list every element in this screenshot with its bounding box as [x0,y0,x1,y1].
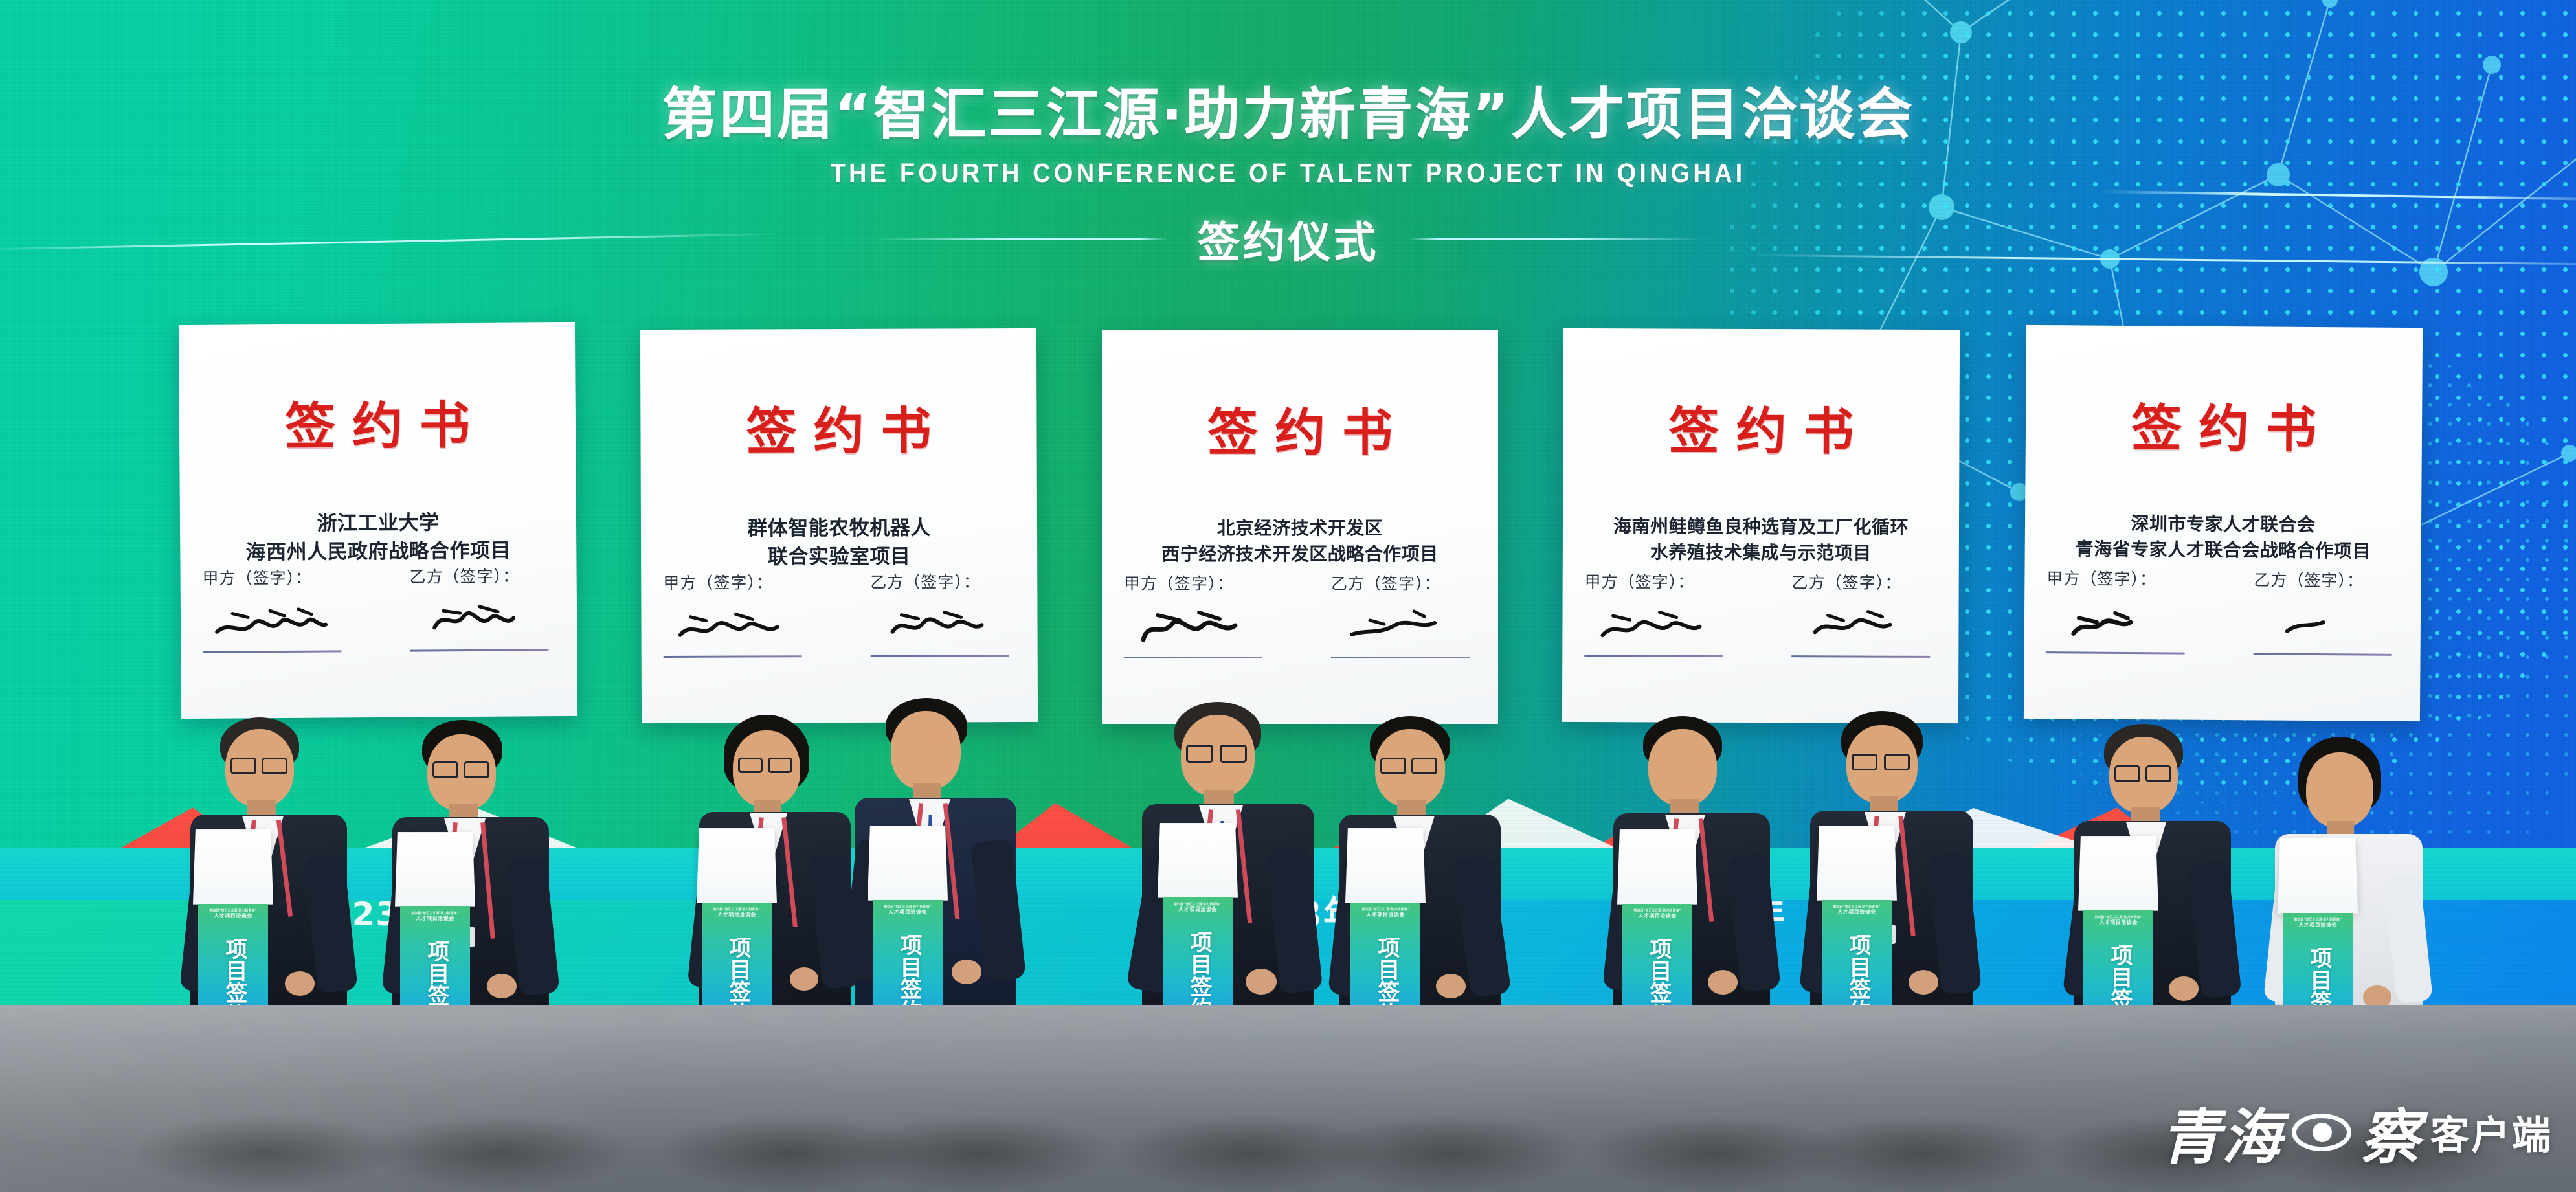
board-heading: 签约书 [1585,390,1937,464]
podium-caption-main: 人才项目洽谈会 [1638,913,1677,919]
board-project-line: 群体智能农牧机器人 [663,513,1015,543]
podium-caption-small: 第四届“智汇三江源·助力新青海” [1622,909,1692,913]
board-heading: 签约书 [2048,387,2401,462]
podium-caption: 第四届“智汇三江源·助力新青海” 人才项目洽谈会 [1163,903,1233,913]
podium-desktop [868,826,948,901]
podium-caption: 第四届“智汇三江源·助力新青海” 人才项目洽谈会 [2283,918,2353,928]
party-b-signature-block: 乙方（签字）： [1781,570,1936,658]
party-a-signature-block: 甲方（签字）： [2046,566,2202,655]
party-a-label: 甲方（签字）： [1124,571,1279,594]
signature-underline [1124,657,1262,658]
party-a-label: 甲方（签字）： [202,565,357,589]
board-project-line: 海西州人民政府战略合作项目 [202,536,554,567]
party-a-signature-block: 甲方（签字）： [1124,571,1279,658]
board-project-line: 浙江工业大学 [202,508,554,539]
signing-board: 签约书 群体智能农牧机器人 联合实验室项目 甲方（签字）： 乙方（签字）： [640,328,1038,723]
signing-board: 签约书 深圳市专家人才联合会 青海省专家人才联合会战略合作项目 甲方（签字）： … [2024,325,2423,721]
signature-row: 甲方（签字）： 乙方（签字）： [2046,566,2399,656]
board-project-line: 青海省专家人才联合会战略合作项目 [2047,536,2399,565]
podium-desktop [193,829,273,905]
podium-desktop [1158,823,1238,898]
party-a-signature-ink [2046,589,2202,653]
podium-desktop [2278,838,2358,914]
party-b-label: 乙方（签字）： [409,563,554,588]
podium-caption-small: 第四届“智汇三江源·助力新青海” [873,905,943,909]
party-b-signature-ink [870,592,1015,655]
podium-desktop [2078,836,2158,911]
party-a-signature-ink [203,588,359,651]
podium-caption-main: 人才项目洽谈会 [2099,919,2138,925]
podium-desktop [395,832,475,907]
podium-caption-main: 人才项目洽谈会 [1837,909,1876,915]
podium-caption-main: 人才项目洽谈会 [2298,922,2337,928]
podium-caption-small: 第四届“智汇三江源·助力新青海” [1163,903,1233,906]
podium-caption-main: 人才项目洽谈会 [717,912,756,917]
podium-caption-small: 第四届“智汇三江源·助力新青海” [2083,916,2153,919]
podium-caption-small: 第四届“智汇三江源·助力新青海” [1350,908,1420,912]
podium-caption: 第四届“智汇三江源·助力新青海” 人才项目洽谈会 [2083,916,2153,926]
podium-caption: 第四届“智汇三江源·助力新青海” 人才项目洽谈会 [702,908,772,918]
board-project-line: 水养殖技术集成与示范项目 [1585,539,1937,567]
party-a-label: 甲方（签字）： [663,570,818,594]
signature-row: 甲方（签字）： 乙方（签字）： [1124,571,1476,658]
party-a-label: 甲方（签字）： [2046,566,2202,590]
board-project-line: 深圳市专家人才联合会 [2047,510,2399,539]
conference-signing-ceremony-photo: 2023年 2023年 2023年 第四届“智汇三江源·助力新青海”人才项目洽谈… [0,0,2576,1192]
signing-board: 签约书 浙江工业大学 海西州人民政府战略合作项目 甲方（签字）： 乙方（签字）： [179,322,577,719]
board-project-title: 北京经济技术开发区 西宁经济技术开发区战略合作项目 [1124,515,1476,567]
podium-caption-small: 第四届“智汇三江源·助力新青海” [702,908,772,912]
board-heading: 签约书 [1124,392,1476,465]
board-project-title: 深圳市专家人才联合会 青海省专家人才联合会战略合作项目 [2047,510,2400,564]
podium-desktop [1817,826,1897,901]
party-a-signature-ink [1124,594,1279,657]
party-b-signature-block: 乙方（签字）： [860,569,1015,657]
podium-caption-small: 第四届“智汇三江源·助力新青海” [1822,905,1892,909]
signing-board: 签约书 海南州鲑鳟鱼良种选育及工厂化循环 水养殖技术集成与示范项目 甲方（签字）… [1562,328,1960,723]
signature-underline [1331,657,1470,658]
podium-caption-small: 第四届“智汇三江源·助力新青海” [2283,918,2353,922]
podium-caption-main: 人才项目洽谈会 [416,916,454,921]
party-a-signature-block: 甲方（签字）： [202,565,358,653]
party-a-signature-ink [663,593,818,656]
board-heading: 签约书 [201,385,554,460]
podium-caption: 第四届“智汇三江源·助力新青海” 人才项目洽谈会 [1822,905,1892,916]
party-b-signature-ink [2254,590,2399,654]
party-a-label: 甲方（签字）： [1585,569,1740,593]
podium-caption: 第四届“智汇三江源·助力新青海” 人才项目洽谈会 [1350,908,1420,918]
podium-caption: 第四届“智汇三江源·助力新青海” 人才项目洽谈会 [400,912,470,922]
party-b-label: 乙方（签字）： [1331,571,1476,594]
signature-row: 甲方（签字）： 乙方（签字）： [202,563,555,653]
podium-desktop [697,828,777,903]
podium-caption-main: 人才项目洽谈会 [1178,906,1217,912]
board-project-title: 群体智能农牧机器人 联合实验室项目 [663,513,1015,572]
podium-caption-main: 人才项目洽谈会 [1366,912,1405,917]
board-project-line: 西宁经济技术开发区战略合作项目 [1124,541,1476,567]
party-b-signature-ink [1331,594,1476,657]
party-b-signature-block: 乙方（签字）： [2243,567,2399,656]
podium-caption-small: 第四届“智汇三江源·助力新青海” [198,909,268,913]
podium-desktop [1617,829,1697,905]
signing-board: 签约书 北京经济技术开发区 西宁经济技术开发区战略合作项目 甲方（签字）： 乙方… [1102,330,1498,724]
party-b-signature-block: 乙方（签字）： [399,563,555,652]
party-b-signature-ink [1791,593,1936,656]
podium-caption-main: 人才项目洽谈会 [214,913,252,919]
party-b-label: 乙方（签字）： [870,569,1015,593]
board-project-title: 浙江工业大学 海西州人民政府战略合作项目 [202,508,555,567]
podium-desktop [1345,828,1426,903]
podium-caption: 第四届“智汇三江源·助力新青海” 人才项目洽谈会 [1622,909,1692,919]
podium-caption-small: 第四届“智汇三江源·助力新青海” [400,912,470,916]
signature-row: 甲方（签字）： 乙方（签字）： [663,569,1015,658]
party-a-signature-block: 甲方（签字）： [1584,569,1740,657]
board-project-title: 海南州鲑鳟鱼良种选育及工厂化循环 水养殖技术集成与示范项目 [1585,513,1937,566]
podium-caption: 第四届“智汇三江源·助力新青海” 人才项目洽谈会 [198,909,268,919]
party-b-label: 乙方（签字）： [1792,570,1937,594]
podium-caption-main: 人才项目洽谈会 [888,909,927,915]
board-heading: 签约书 [662,390,1014,464]
stage-floor [0,1005,2576,1192]
party-a-signature-ink [1584,592,1740,655]
party-b-signature-block: 乙方（签字）： [1321,571,1476,658]
signature-row: 甲方（签字）： 乙方（签字）： [1584,569,1936,658]
party-b-signature-ink [410,587,555,650]
board-project-line: 北京经济技术开发区 [1124,515,1476,541]
party-b-label: 乙方（签字）： [2254,567,2399,592]
board-project-line: 联合实验室项目 [663,542,1015,572]
party-a-signature-block: 甲方（签字）： [663,570,818,658]
board-project-line: 海南州鲑鳟鱼良种选育及工厂化循环 [1585,513,1937,541]
podium-caption: 第四届“智汇三江源·助力新青海” 人才项目洽谈会 [873,905,943,916]
